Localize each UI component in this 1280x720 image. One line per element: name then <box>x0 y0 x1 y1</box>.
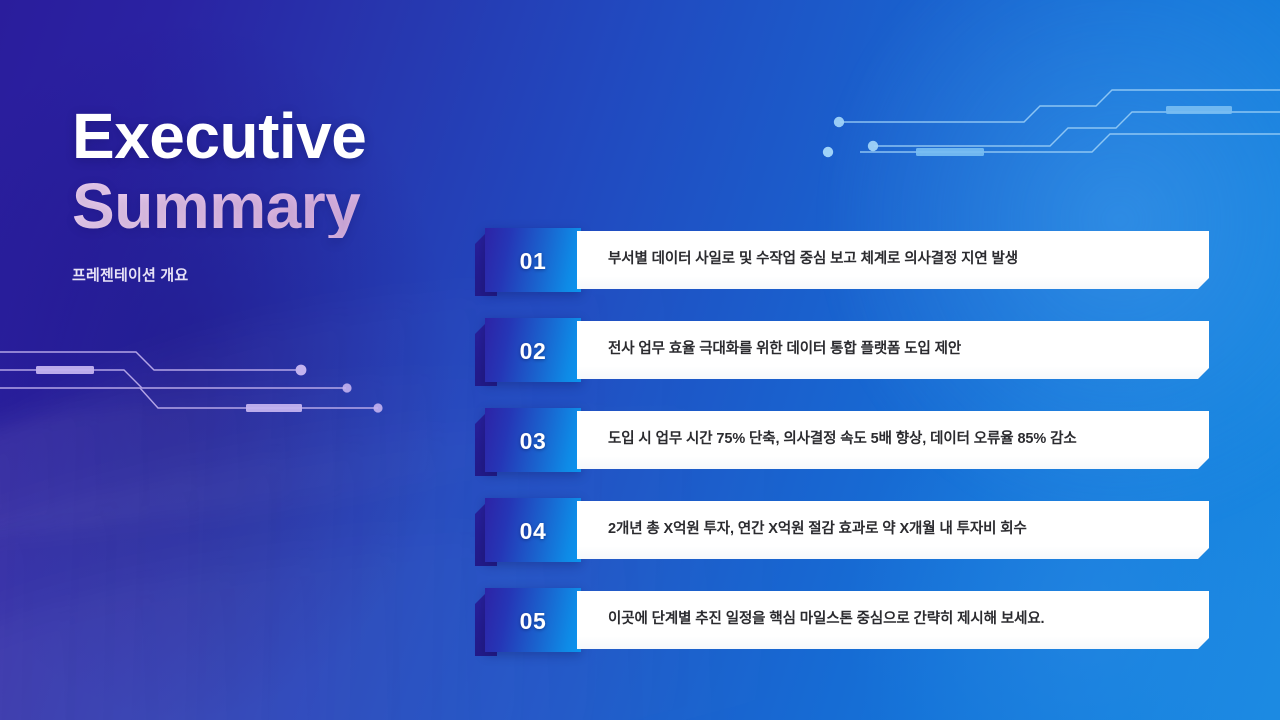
list-item-card[interactable]: 부서별 데이터 사일로 및 수작업 중심 보고 체계로 의사결정 지연 발생 <box>577 231 1209 289</box>
list-item-number-badge: 04 <box>485 498 581 562</box>
page-title-line1: Executive <box>72 104 532 168</box>
list-item-number-badge: 05 <box>485 588 581 652</box>
list-item-text: 2개년 총 X억원 투자, 연간 X억원 절감 효과로 약 X개월 내 투자비 … <box>577 520 1045 540</box>
page-subtitle: 프레젠테이션 개요 <box>72 264 532 285</box>
list-item-card[interactable]: 2개년 총 X억원 투자, 연간 X억원 절감 효과로 약 X개월 내 투자비 … <box>577 501 1209 559</box>
list-item-text: 전사 업무 효율 극대화를 위한 데이터 통합 플랫폼 도입 제안 <box>577 340 979 360</box>
list-item[interactable]: 042개년 총 X억원 투자, 연간 X억원 절감 효과로 약 X개월 내 투자… <box>475 498 1215 556</box>
list-item-number: 05 <box>520 608 547 635</box>
list-item[interactable]: 01부서별 데이터 사일로 및 수작업 중심 보고 체계로 의사결정 지연 발생 <box>475 228 1215 286</box>
circuit-lines-icon-bottom-left <box>0 330 400 435</box>
page-title-line2: Summary <box>72 174 532 238</box>
list-item[interactable]: 02전사 업무 효율 극대화를 위한 데이터 통합 플랫폼 도입 제안 <box>475 318 1215 376</box>
list-item-number-badge: 01 <box>485 228 581 292</box>
list-item[interactable]: 03도입 시 업무 시간 75% 단축, 의사결정 속도 5배 향상, 데이터 … <box>475 408 1215 466</box>
summary-list: 01부서별 데이터 사일로 및 수작업 중심 보고 체계로 의사결정 지연 발생… <box>475 228 1215 646</box>
list-item[interactable]: 05이곳에 단계별 추진 일정을 핵심 마일스톤 중심으로 간략히 제시해 보세… <box>475 588 1215 646</box>
title-block: Executive Summary 프레젠테이션 개요 <box>72 104 532 285</box>
list-item-card[interactable]: 전사 업무 효율 극대화를 위한 데이터 통합 플랫폼 도입 제안 <box>577 321 1209 379</box>
list-item-number: 02 <box>520 338 547 365</box>
list-item-number: 01 <box>520 248 547 275</box>
list-item-number: 04 <box>520 518 547 545</box>
list-item-card[interactable]: 이곳에 단계별 추진 일정을 핵심 마일스톤 중심으로 간략히 제시해 보세요. <box>577 591 1209 649</box>
list-item-number-badge: 02 <box>485 318 581 382</box>
list-item-text: 도입 시 업무 시간 75% 단축, 의사결정 속도 5배 향상, 데이터 오류… <box>577 430 1095 450</box>
circuit-lines-icon-top-right <box>810 76 1280 191</box>
list-item-number-badge: 03 <box>485 408 581 472</box>
slide-root: Executive Summary 프레젠테이션 개요 01부서별 데이터 사일… <box>0 0 1280 720</box>
list-item-card[interactable]: 도입 시 업무 시간 75% 단축, 의사결정 속도 5배 향상, 데이터 오류… <box>577 411 1209 469</box>
list-item-number: 03 <box>520 428 547 455</box>
list-item-text: 이곳에 단계별 추진 일정을 핵심 마일스톤 중심으로 간략히 제시해 보세요. <box>577 610 1062 630</box>
list-item-text: 부서별 데이터 사일로 및 수작업 중심 보고 체계로 의사결정 지연 발생 <box>577 250 1036 270</box>
